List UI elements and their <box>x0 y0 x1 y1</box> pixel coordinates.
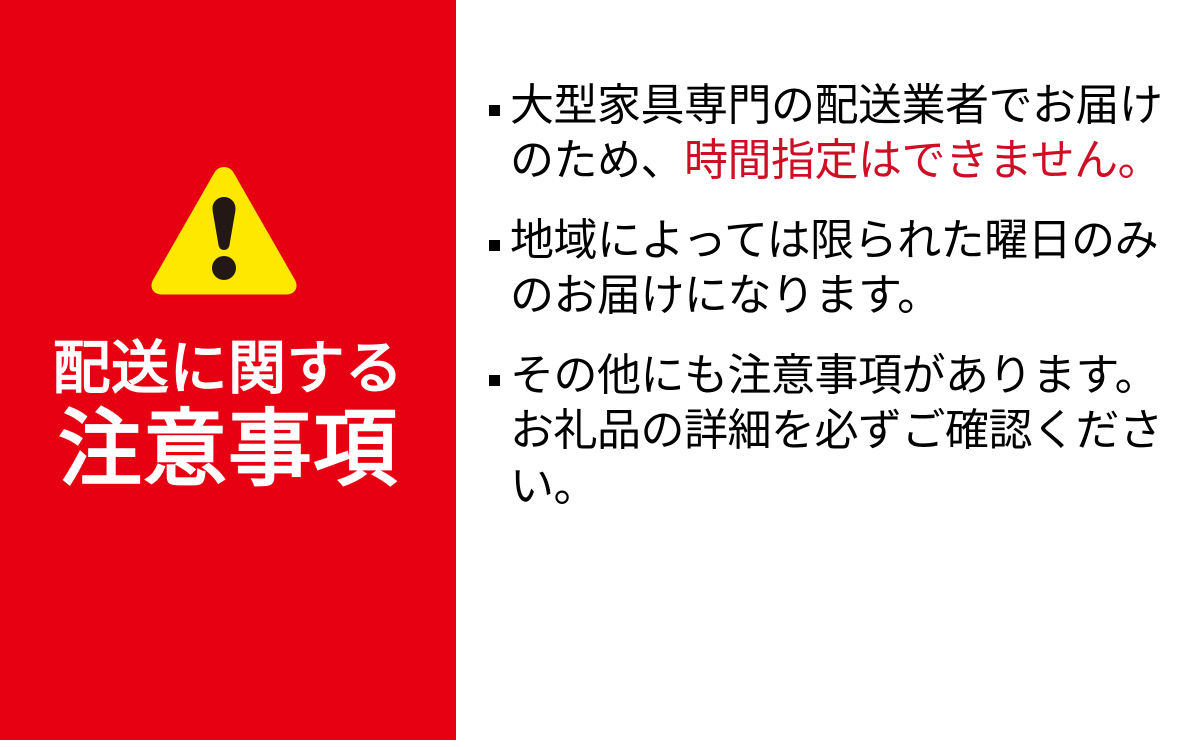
panel-title-line-2: 注意事項 <box>0 405 456 494</box>
list-item: 大型家具専門の配送業者でお届けのため、時間指定はできません。 <box>486 78 1176 189</box>
bullet-square-icon <box>489 105 500 116</box>
panel-title-line-1: 配送に関する <box>0 338 456 399</box>
note-text-3: その他にも注意事項があります。お礼品の詳細を必ずご確認ください。 <box>510 351 1163 511</box>
warning-triangle-icon <box>149 163 299 295</box>
note-text-1-emphasis: 時間指定はできません。 <box>684 136 1161 185</box>
list-item: その他にも注意事項があります。お礼品の詳細を必ずご確認ください。 <box>486 348 1176 514</box>
note-text-3-plain: その他にも注意事項があります。お礼品の詳細を必ずご確認ください。 <box>510 351 1163 511</box>
delivery-notice-banner: 配送に関する 注意事項 大型家具専門の配送業者でお届けのため、時間指定はできませ… <box>0 0 1201 747</box>
list-item: 地域によっては限られた曜日のみのお届けになります。 <box>486 213 1176 324</box>
notice-list: 大型家具専門の配送業者でお届けのため、時間指定はできません。 地域によっては限ら… <box>486 78 1176 514</box>
note-text-2-plain: 地域によっては限られた曜日のみのお届けになります。 <box>510 216 1158 320</box>
note-text-1: 大型家具専門の配送業者でお届けのため、時間指定はできません。 <box>510 81 1163 185</box>
note-text-2: 地域によっては限られた曜日のみのお届けになります。 <box>510 216 1158 320</box>
notice-body-panel: 大型家具専門の配送業者でお届けのため、時間指定はできません。 地域によっては限ら… <box>456 0 1201 747</box>
panel-title: 配送に関する 注意事項 <box>0 338 456 495</box>
notice-heading-panel: 配送に関する 注意事項 <box>0 0 456 740</box>
bullet-square-icon <box>489 375 500 386</box>
bullet-square-icon <box>489 240 500 251</box>
